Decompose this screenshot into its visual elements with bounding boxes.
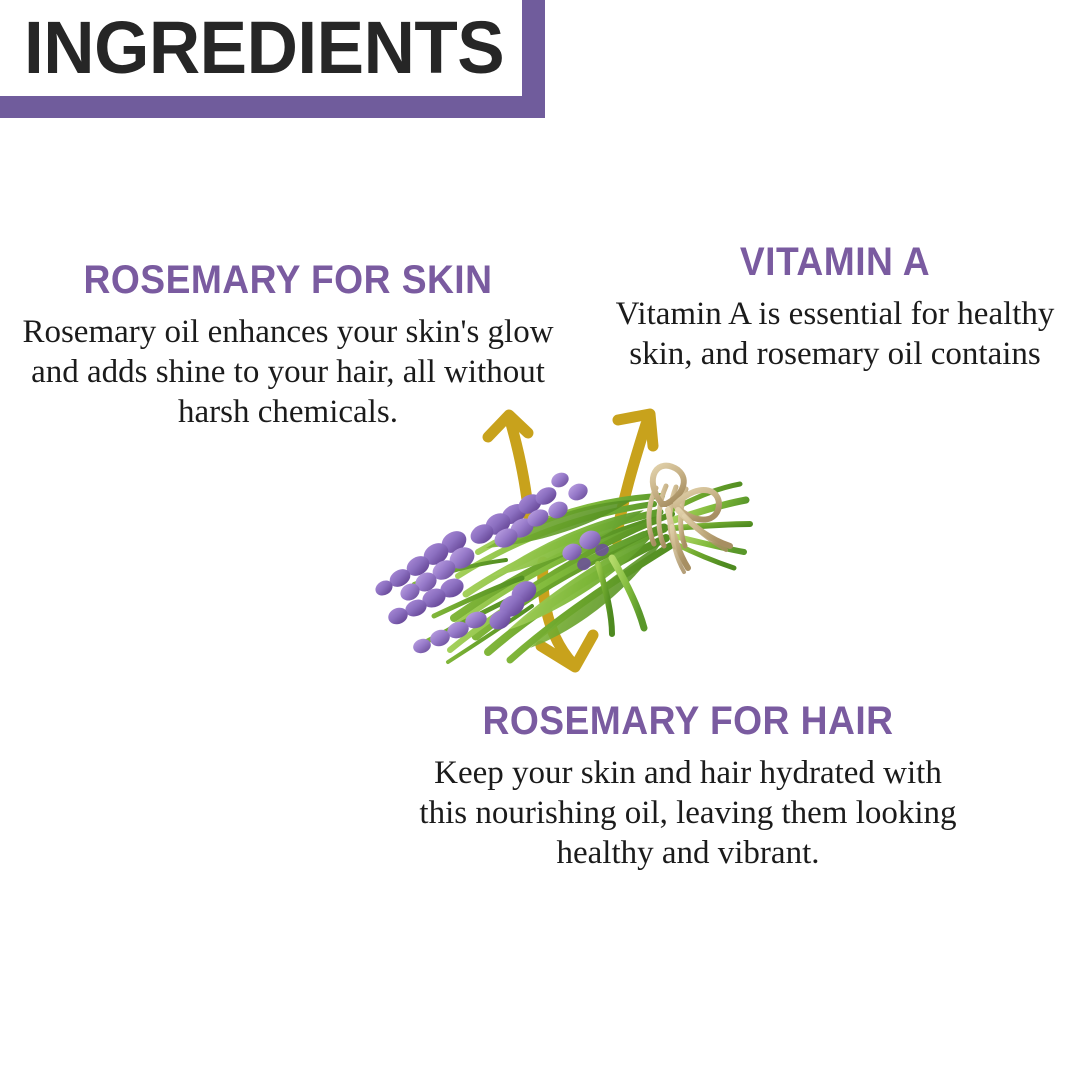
panel-heading-vitamin-a: VITAMIN A — [613, 238, 1058, 286]
header-block: INGREDIENTS — [0, 0, 545, 118]
lavender-bundle-graphic — [373, 466, 750, 662]
panel-body-vitamin-a: Vitamin A is essential for healthy skin,… — [596, 294, 1074, 374]
panel-heading-rosemary-for-hair: ROSEMARY FOR HAIR — [434, 697, 942, 745]
panel-heading-rosemary-for-skin: ROSEMARY FOR SKIN — [28, 256, 549, 304]
page-title: INGREDIENTS — [24, 2, 485, 94]
ingredients-infographic: INGREDIENTS ROSEMARY FOR SKIN Rosemary o… — [0, 0, 1080, 1080]
panel-body-rosemary-for-hair: Keep your skin and hair hydrated with th… — [415, 753, 961, 873]
twine-bow-icon — [649, 466, 730, 572]
lavender-bundle-image — [326, 392, 756, 687]
panel-vitamin-a: VITAMIN A Vitamin A is essential for hea… — [596, 238, 1074, 374]
panel-rosemary-for-hair: ROSEMARY FOR HAIR Keep your skin and hai… — [415, 697, 961, 873]
